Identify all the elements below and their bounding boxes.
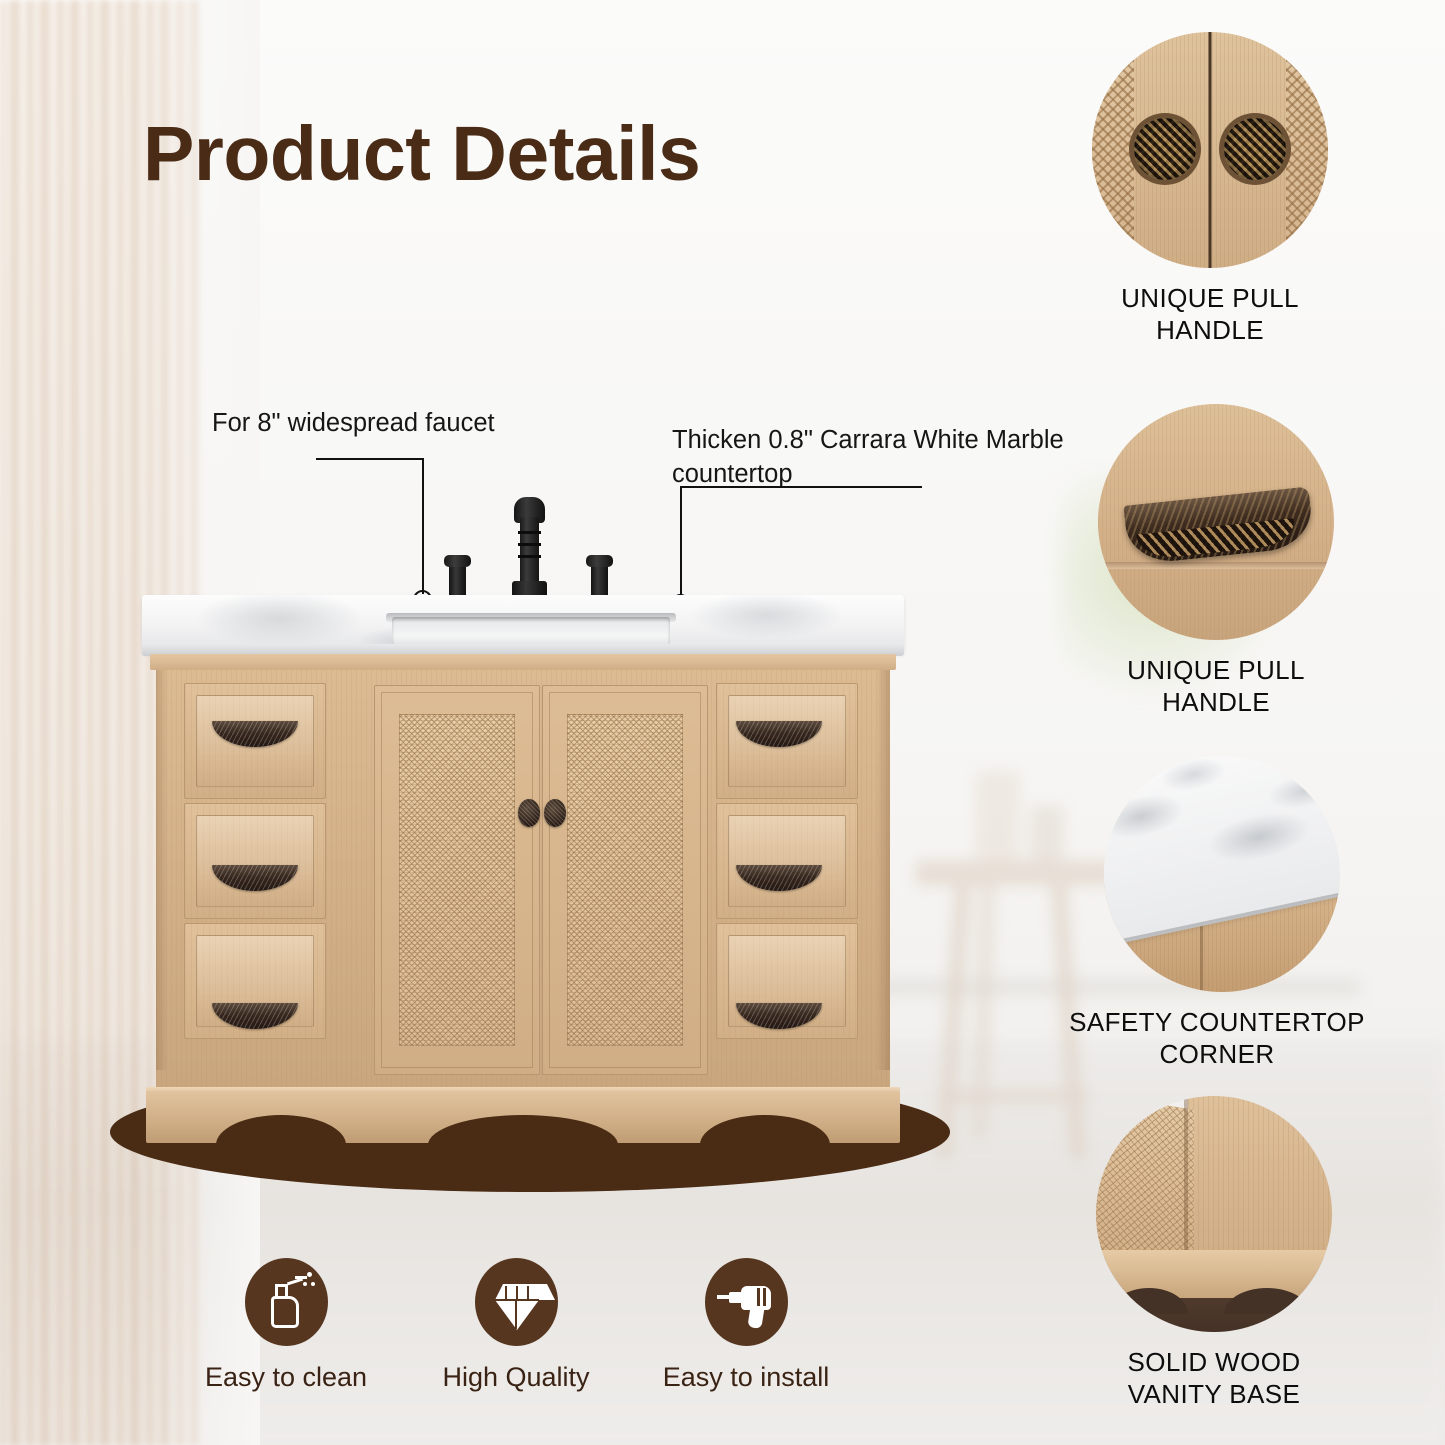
cane-webbing-panel-left (399, 714, 515, 1046)
detail-cup-handle: UNIQUE PULL HANDLE (1098, 404, 1391, 718)
faucet-icon (390, 495, 680, 605)
drill-icon (705, 1258, 788, 1346)
detail-image-countertop-corner (1104, 756, 1340, 992)
diamond-icon (475, 1258, 558, 1346)
door-seam (1209, 32, 1212, 268)
stool-leg (935, 880, 971, 1161)
detail-label-cup-handle: UNIQUE PULL HANDLE (1041, 654, 1391, 718)
detail-image-vanity-base (1096, 1096, 1332, 1332)
spray-bottle-icon (245, 1258, 328, 1346)
door-knob-right[interactable] (544, 799, 566, 827)
callout-label-faucet: For 8" widespread faucet (212, 407, 495, 441)
cabinet-shading-right (876, 670, 890, 1070)
cane-texture-right (1286, 32, 1328, 268)
feature-high-quality: High Quality (406, 1258, 626, 1393)
cane-webbing-panel-right (567, 714, 683, 1046)
detail-knob-handle: UNIQUE PULL HANDLE (1092, 32, 1385, 346)
detail-countertop-corner: SAFETY COUNTERTOP CORNER (1104, 756, 1392, 1070)
woven-knob-icon (1224, 118, 1286, 180)
cabinet-shading-left (156, 670, 168, 1070)
drawer-right-middle[interactable] (716, 803, 858, 919)
infographic-canvas: Product Details For 8" widespread faucet… (0, 0, 1445, 1445)
door-knob-left[interactable] (518, 799, 540, 827)
detail-image-knob-handle (1092, 32, 1328, 268)
detail-label-countertop-corner: SAFETY COUNTERTOP CORNER (1042, 1006, 1392, 1070)
detail-label-vanity-base: SOLID WOOD VANITY BASE (1039, 1346, 1389, 1410)
detail-label-knob-handle: UNIQUE PULL HANDLE (1035, 282, 1385, 346)
feature-badges: Easy to clean High Quality (190, 1258, 890, 1428)
stool-seat (915, 860, 1115, 886)
page-title: Product Details (143, 110, 700, 199)
woven-knob-icon (1134, 118, 1196, 180)
product-vanity-image (128, 595, 918, 1175)
feature-label-high-quality: High Quality (406, 1362, 626, 1393)
cabinet-door-left[interactable] (374, 685, 540, 1075)
feature-label-easy-to-clean: Easy to clean (176, 1362, 396, 1393)
callout-label-marble: Thicken 0.8" Carrara White Marble counte… (672, 424, 1102, 491)
cane-texture-left (1092, 32, 1134, 268)
feature-easy-to-install: Easy to install (636, 1258, 856, 1393)
drawer-seam (1098, 562, 1334, 569)
stool-vase-icon (975, 770, 1021, 870)
feature-easy-to-clean: Easy to clean (176, 1258, 396, 1393)
cabinet-door-right[interactable] (542, 685, 708, 1075)
detail-image-cup-handle (1098, 404, 1334, 640)
drawer-left-middle[interactable] (184, 803, 326, 919)
stool-rail (937, 1090, 1089, 1103)
detail-vanity-base: SOLID WOOD VANITY BASE (1096, 1096, 1389, 1410)
cabinet-top-rail (150, 654, 896, 670)
feature-label-easy-to-install: Easy to install (636, 1362, 856, 1393)
